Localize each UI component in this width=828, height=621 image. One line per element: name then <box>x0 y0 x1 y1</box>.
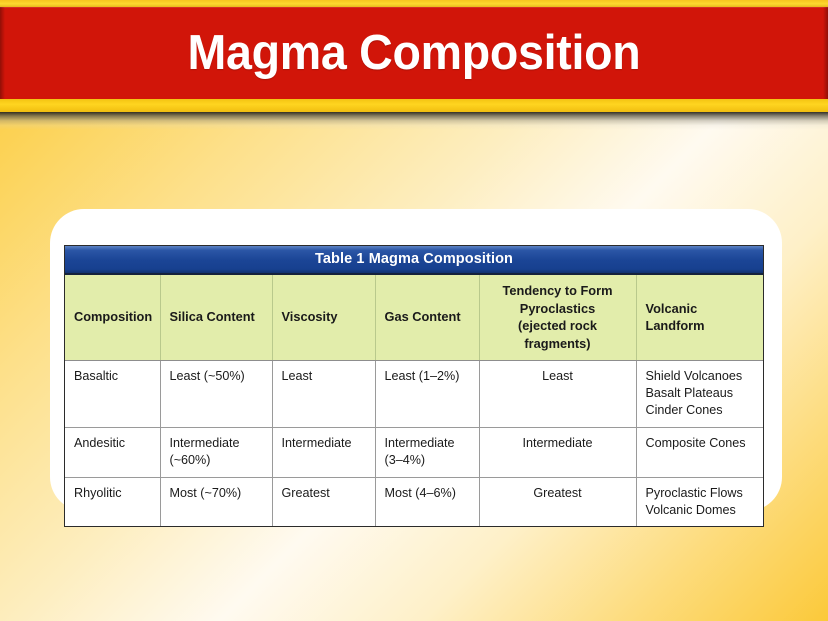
cell-gas-content: Least (1–2%) <box>375 360 479 427</box>
cell-line: Intermediate <box>385 435 470 452</box>
cell-composition: Basaltic <box>65 360 160 427</box>
col-header-composition[interactable]: Composition <box>65 275 160 360</box>
col-header-pyroclastics-line2: Pyroclastics <box>489 300 627 318</box>
landform-item: Shield Volcanoes <box>646 368 755 385</box>
header-drop-shadow <box>0 112 828 130</box>
header-bottom-gold-band <box>0 99 828 112</box>
landform-item: Cinder Cones <box>646 402 755 419</box>
cell-composition: Andesitic <box>65 427 160 477</box>
cell-line: Most (4–6%) <box>385 485 470 502</box>
cell-viscosity: Least <box>272 360 375 427</box>
table-row[interactable]: Andesitic Intermediate (~60%) Intermedia… <box>65 427 763 477</box>
cell-pyroclastics: Intermediate <box>479 427 636 477</box>
cell-silica-content: Intermediate (~60%) <box>160 427 272 477</box>
col-header-silica-content[interactable]: Silica Content <box>160 275 272 360</box>
cell-gas-content: Most (4–6%) <box>375 477 479 526</box>
cell-gas-content: Intermediate (3–4%) <box>375 427 479 477</box>
cell-line: (~60%) <box>170 452 263 469</box>
table-grid: Composition Silica Content Viscosity Gas… <box>65 275 763 526</box>
col-header-pyroclastics-line1: Tendency to Form <box>489 282 627 300</box>
cell-line: Most (~70%) <box>170 485 263 502</box>
cell-silica-content: Most (~70%) <box>160 477 272 526</box>
landform-item: Pyroclastic Flows <box>646 485 755 502</box>
landform-item: Basalt Plateaus <box>646 385 755 402</box>
cell-line: Intermediate <box>170 435 263 452</box>
col-header-volcanic-landform[interactable]: Volcanic Landform <box>636 275 763 360</box>
table-row[interactable]: Basaltic Least (~50%) Least Least (1–2%)… <box>65 360 763 427</box>
landform-item: Volcanic Domes <box>646 502 755 519</box>
cell-pyroclastics: Least <box>479 360 636 427</box>
landform-item: Composite Cones <box>646 435 755 452</box>
cell-volcanic-landform: Pyroclastic Flows Volcanic Domes <box>636 477 763 526</box>
slide-header-banner: Magma Composition <box>0 0 828 130</box>
cell-pyroclastics: Greatest <box>479 477 636 526</box>
col-header-pyroclastics[interactable]: Tendency to Form Pyroclastics (ejected r… <box>479 275 636 360</box>
col-header-gas-content[interactable]: Gas Content <box>375 275 479 360</box>
table-header-row: Composition Silica Content Viscosity Gas… <box>65 275 763 360</box>
col-header-pyroclastics-line3: (ejected rock fragments) <box>489 317 627 352</box>
col-header-viscosity[interactable]: Viscosity <box>272 275 375 360</box>
page-title: Magma Composition <box>21 7 808 99</box>
table-caption: Table 1 Magma Composition <box>65 246 763 275</box>
cell-line: (3–4%) <box>385 452 470 469</box>
slide: Magma Composition Table 1 Magma Composit… <box>0 0 828 621</box>
cell-volcanic-landform: Composite Cones <box>636 427 763 477</box>
magma-composition-table: Table 1 Magma Composition Composition Si… <box>64 245 764 527</box>
cell-composition: Rhyolitic <box>65 477 160 526</box>
cell-viscosity: Intermediate <box>272 427 375 477</box>
table-head: Composition Silica Content Viscosity Gas… <box>65 275 763 360</box>
cell-volcanic-landform: Shield Volcanoes Basalt Plateaus Cinder … <box>636 360 763 427</box>
header-top-gold-strip <box>0 0 828 7</box>
cell-silica-content: Least (~50%) <box>160 360 272 427</box>
cell-viscosity: Greatest <box>272 477 375 526</box>
table-row[interactable]: Rhyolitic Most (~70%) Greatest Most (4–6… <box>65 477 763 526</box>
table-body: Basaltic Least (~50%) Least Least (1–2%)… <box>65 360 763 526</box>
